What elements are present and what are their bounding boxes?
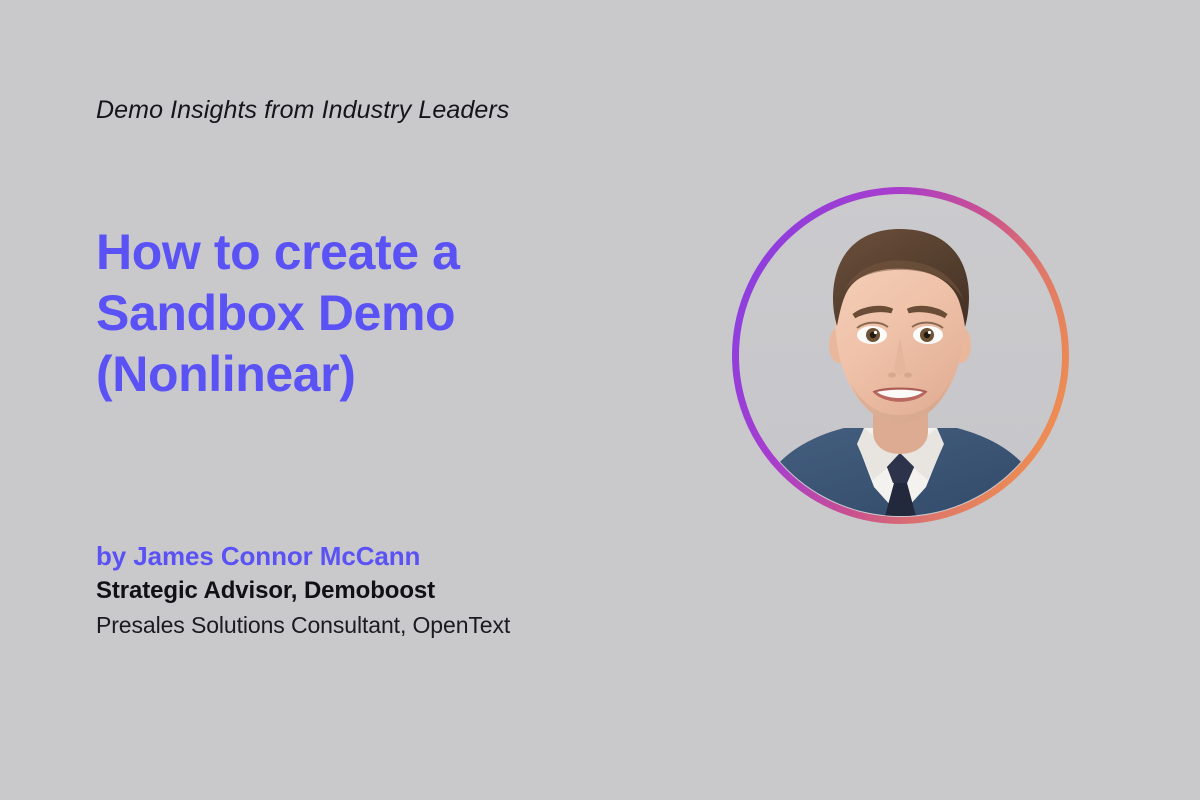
eyebrow-label: Demo Insights from Industry Leaders	[96, 96, 509, 125]
byline-author: by James Connor McCann	[96, 540, 676, 574]
byline: by James Connor McCann Strategic Advisor…	[96, 540, 676, 642]
portrait-illustration	[740, 195, 1061, 516]
avatar-photo	[740, 195, 1061, 516]
text-column: Demo Insights from Industry Leaders How …	[96, 0, 696, 800]
page-title: How to create a Sandbox Demo (Nonlinear)	[96, 222, 676, 405]
byline-role: Strategic Advisor, Demoboost	[96, 574, 676, 608]
byline-company: Presales Solutions Consultant, OpenText	[96, 608, 676, 643]
speaker-slide: Demo Insights from Industry Leaders How …	[0, 0, 1200, 800]
avatar	[731, 186, 1070, 525]
